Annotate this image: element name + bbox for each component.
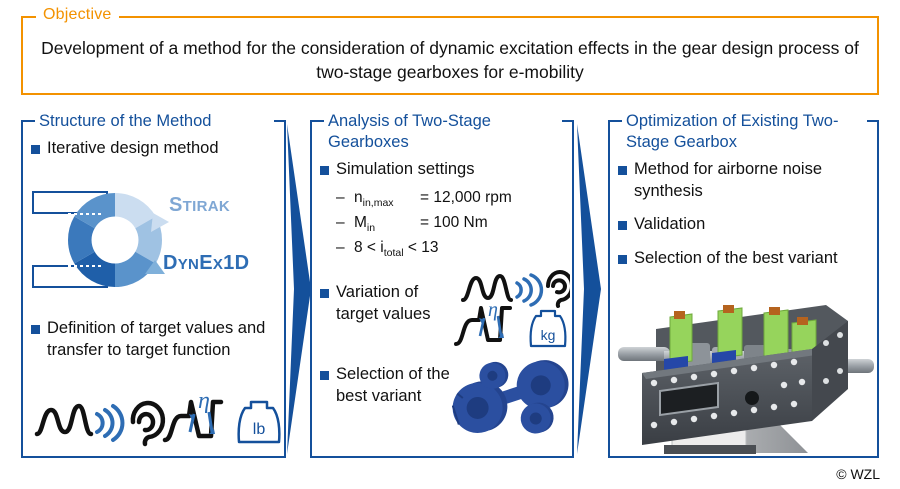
panel-title-analysis: Analysis of Two-Stage Gearboxes: [324, 111, 562, 153]
efficiency-curve-icon: η: [165, 388, 221, 440]
weight-icon: lb: [239, 402, 280, 442]
bullet-list-structure-lower: Definition of target values and transfer…: [23, 318, 284, 361]
list-item: Simulation settings: [312, 159, 572, 181]
bullet-list-analysis: Simulation settings nin,max= 12,000 rpm …: [312, 159, 572, 260]
panel-body-analysis-mid: Variation of target values: [312, 282, 462, 330]
bullet-list-optimization: Method for airborne noise synthesis Vali…: [610, 159, 877, 269]
inequality-left: 8 <: [354, 239, 376, 256]
chevron-right-icon: [571, 120, 605, 458]
stirak-rest: TIRAK: [183, 198, 230, 215]
setting-row: Min= 100 Nm: [312, 211, 572, 235]
list-item: Method for airborne noise synthesis: [610, 159, 877, 202]
noise-waveform-icon: [463, 276, 511, 300]
dynex-rest1: YN: [178, 256, 199, 273]
panel-optimization-of-existing-two-stage-gearbox: Optimization of Existing Two-Stage Gearb…: [608, 120, 879, 458]
objective-statement: Development of a method for the consider…: [38, 36, 862, 84]
panel-title-optimization: Optimization of Existing Two-Stage Gearb…: [622, 111, 867, 153]
copyright-label: © WZL: [836, 466, 880, 482]
dynex-suffix: 1D: [223, 252, 249, 274]
gear-train-icon: [452, 350, 578, 450]
panel-analysis-of-two-stage-gearboxes: Analysis of Two-Stage Gearboxes Simulati…: [310, 120, 574, 458]
eta-symbol: η: [488, 300, 498, 321]
dynex1d-label: DYNEX1D: [163, 252, 249, 275]
dynex-cap1: D: [163, 252, 178, 274]
target-value-icons-row-2: η kg: [452, 300, 574, 348]
panel-body-structure-lower: Definition of target values and transfer…: [23, 318, 284, 366]
weight-unit-label: kg: [541, 327, 556, 343]
target-value-icons-row: η lb: [33, 382, 283, 448]
panel-body-analysis: Simulation settings nin,max= 12,000 rpm …: [312, 159, 572, 261]
list-item: Variation of target values: [312, 282, 462, 325]
dynex-rest2: X: [213, 256, 223, 273]
inequality-right: < 13: [408, 239, 439, 256]
setting-row: nin,max= 12,000 rpm: [312, 186, 572, 210]
stirak-label: STIRAK: [169, 194, 230, 217]
weight-icon: kg: [531, 311, 566, 346]
setting-row: 8 < itotal < 13: [312, 236, 572, 260]
panel-body-optimization: Method for airborne noise synthesis Vali…: [610, 159, 877, 274]
panel-body-structure-of-the-method: Iterative design method: [23, 138, 284, 165]
setting-symbol: M: [354, 214, 367, 231]
setting-value: 100 Nm: [433, 214, 487, 231]
panel-structure-of-the-method: Structure of the Method Iterative design…: [21, 120, 286, 458]
list-item: Validation: [610, 214, 877, 236]
stirak-cap: S: [169, 194, 183, 216]
list-item: Selection of the best variant: [312, 364, 452, 407]
gear-train-illustration: [452, 350, 578, 450]
setting-subscript: in: [367, 222, 375, 234]
objective-legend-label: Objective: [36, 6, 119, 24]
list-item: Iterative design method: [23, 138, 284, 160]
setting-subscript: total: [384, 247, 404, 259]
bullet-list-analysis-low: Selection of the best variant: [312, 364, 452, 407]
efficiency-curve-icon: η: [456, 300, 510, 344]
list-item: Selection of the best variant: [610, 248, 877, 270]
ear-icon: [133, 403, 163, 444]
bullet-list-structure: Iterative design method: [23, 138, 284, 160]
sound-waves-icon: [97, 406, 122, 440]
bullet-list-analysis-mid: Variation of target values: [312, 282, 462, 325]
dynex-cap2: E: [199, 252, 213, 274]
setting-symbol: n: [354, 189, 363, 206]
list-item: Definition of target values and transfer…: [23, 318, 284, 361]
panel-body-analysis-low: Selection of the best variant: [312, 364, 452, 412]
setting-relation: =: [420, 214, 429, 231]
noise-waveform-icon: [37, 406, 91, 434]
eta-symbol: η: [198, 388, 210, 414]
cycle-icon: [29, 184, 281, 296]
weight-unit-label: lb: [253, 421, 266, 438]
gearbox-test-rig-photo: [612, 285, 877, 456]
setting-value: 12,000 rpm: [433, 189, 511, 206]
flow-arrow-2: [571, 120, 605, 458]
panel-title-structure-of-the-method: Structure of the Method: [35, 111, 274, 132]
iterative-design-cycle-diagram: [29, 184, 281, 296]
setting-subscript: in,max: [363, 197, 394, 209]
setting-relation: =: [420, 189, 429, 206]
